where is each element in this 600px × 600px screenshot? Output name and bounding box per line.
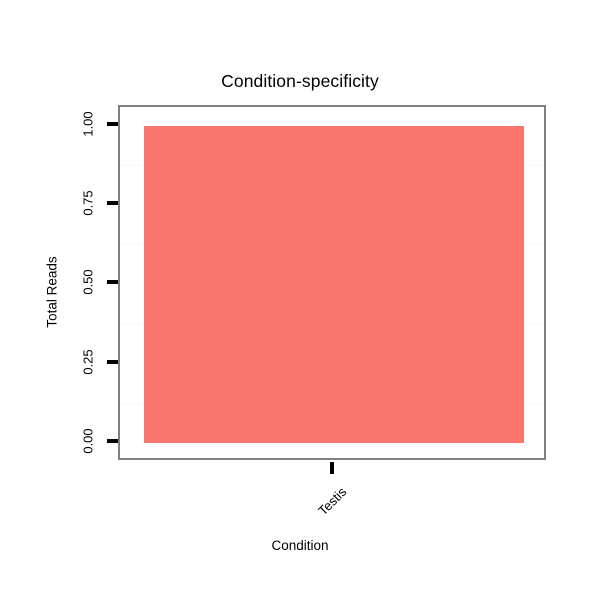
x-axis-title: Condition [0, 538, 600, 553]
x-tick-label: Testis [315, 484, 349, 518]
x-tick-mark [330, 462, 334, 474]
bar-testis[interactable] [144, 126, 525, 444]
plot-panel [118, 105, 546, 460]
y-tick-mark [107, 280, 118, 284]
y-tick-mark [107, 360, 118, 364]
y-tick-label: 0.25 [81, 349, 96, 374]
y-tick-mark [107, 439, 118, 443]
y-tick-label: 0.50 [81, 270, 96, 295]
chart-title: Condition-specificity [0, 71, 600, 92]
y-tick-label: 0.00 [81, 428, 96, 453]
y-tick-mark [107, 122, 118, 126]
y-axis-title: Total Reads [45, 256, 60, 327]
y-tick-label: 1.00 [81, 111, 96, 136]
plot-area [120, 107, 544, 458]
y-tick-label: 0.75 [81, 190, 96, 215]
y-tick-mark [107, 201, 118, 205]
chart-canvas: Condition-specificity 0.000.250.500.751.… [0, 0, 600, 600]
